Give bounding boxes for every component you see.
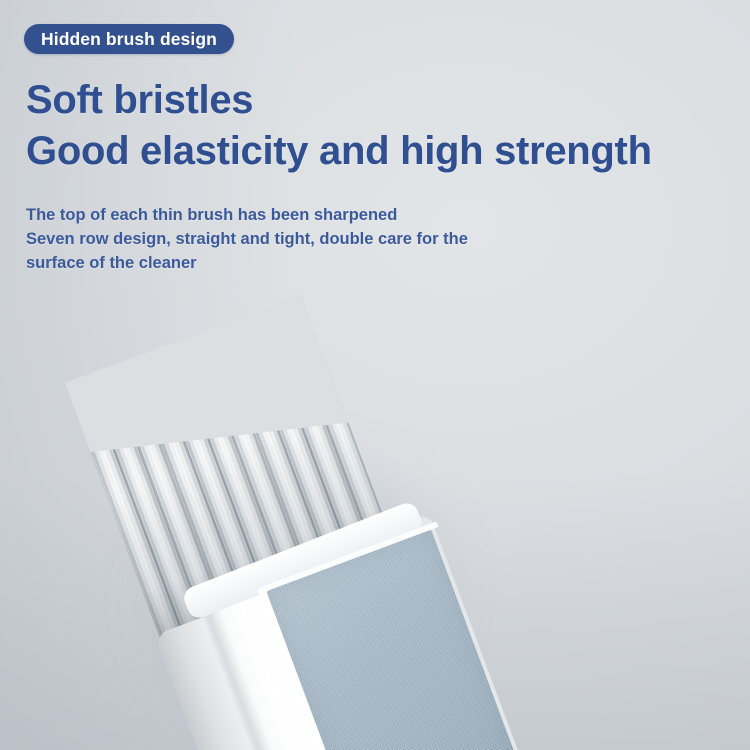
housing-corner-shadow xyxy=(199,594,312,750)
housing-top-rim xyxy=(181,500,425,621)
pad-white-bevel xyxy=(257,521,533,750)
headline-secondary: Good elasticity and high strength xyxy=(26,129,652,174)
pad-texture xyxy=(266,530,523,750)
bristle-top-mask xyxy=(65,294,401,456)
brush-assembly xyxy=(61,269,552,750)
suede-cleaning-pad xyxy=(266,530,523,750)
brush-housing xyxy=(148,513,527,750)
bristle-filaments xyxy=(65,294,401,650)
product-marketing-image: Hidden brush design Soft bristles Good e… xyxy=(0,0,750,750)
bristle-shading xyxy=(65,294,401,650)
product-drop-shadow xyxy=(74,378,525,750)
bristle-tufts xyxy=(65,294,401,650)
housing-left-face xyxy=(155,613,305,750)
headline-primary: Soft bristles xyxy=(26,78,253,123)
bristle-tip-haze xyxy=(65,363,373,422)
feature-badge: Hidden brush design xyxy=(24,24,234,54)
housing-front-face xyxy=(199,513,527,750)
brush-bristles xyxy=(65,294,401,650)
housing-highlight xyxy=(238,573,368,750)
body-copy: The top of each thin brush has been shar… xyxy=(26,203,468,275)
housing-bristle-slot xyxy=(199,514,404,606)
background-shading-bottom xyxy=(0,470,750,750)
bristle-tip-fuzz xyxy=(65,376,380,447)
